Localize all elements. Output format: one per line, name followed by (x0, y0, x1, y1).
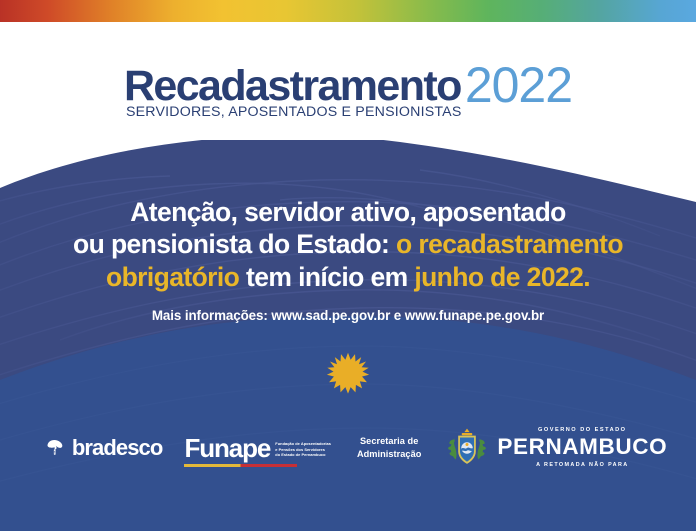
funape-subtitle-line-1: Fundação de Aposentadorias (275, 441, 331, 446)
funape-rule (184, 464, 297, 468)
page-title: Recadastramento (124, 65, 461, 108)
title-row: Recadastramento2022 SERVIDORES, APOSENTA… (124, 58, 572, 108)
info-line: Mais informações: www.sad.pe.gov.br e ww… (0, 308, 696, 323)
bradesco-tree-icon (43, 436, 67, 460)
message-line-2: ou pensionista do Estado: o recadastrame… (0, 228, 696, 260)
recadastramento-banner: Recadastramento2022 SERVIDORES, APOSENTA… (0, 0, 696, 531)
top-gradient-bar (0, 0, 696, 22)
pernambuco-slogan: A RETOMADA NÃO PARA (497, 463, 667, 468)
message-line-3-text: tem início em (239, 262, 414, 292)
logo-bradesco: bradesco (43, 435, 163, 461)
secretaria-line-1: Secretaria de (360, 436, 418, 446)
logo-funape: Funape Fundação de Aposentadorias e Pens… (184, 435, 331, 461)
pernambuco-text-block: GOVERNO DO ESTADO PERNAMBUCO A RETOMADA … (497, 428, 667, 469)
message-line-2-highlight: o recadastramento (396, 229, 623, 259)
funape-subtitle-line-3: do Estado de Pernambuco (275, 452, 325, 457)
title-year: 2022 (465, 60, 572, 110)
funape-label: Funape (184, 433, 270, 463)
main-message: Atenção, servidor ativo, aposentado ou p… (0, 196, 696, 293)
funape-wordmark-wrap: Funape (184, 435, 270, 461)
message-line-1: Atenção, servidor ativo, aposentado (0, 196, 696, 228)
sun-icon (326, 351, 370, 395)
page-subtitle: SERVIDORES, APOSENTADOS E PENSIONISTAS (126, 104, 462, 120)
message-line-3-highlight-a: obrigatório (106, 262, 239, 292)
funape-subtitle-line-2: e Pensões dos Servidores (275, 447, 325, 452)
logo-pernambuco: GOVERNO DO ESTADO PERNAMBUCO A RETOMADA … (445, 426, 667, 470)
message-line-1-text: Atenção, servidor ativo, aposentado (130, 197, 566, 227)
bradesco-label: bradesco (72, 435, 163, 461)
secretaria-line-2: Administração (357, 449, 421, 459)
title-block: Recadastramento2022 SERVIDORES, APOSENTA… (0, 58, 696, 108)
message-line-3-highlight-b: junho de 2022. (414, 262, 590, 292)
sun-icon-wrap (0, 351, 696, 400)
message-line-3: obrigatório tem início em junho de 2022. (0, 261, 696, 293)
pernambuco-gov-label: GOVERNO DO ESTADO (497, 428, 667, 434)
pernambuco-name: PERNAMBUCO (497, 436, 667, 459)
pernambuco-coat-of-arms-icon (445, 426, 489, 470)
logo-secretaria-administracao: Secretaria de Administração (357, 435, 421, 462)
funape-subtitle: Fundação de Aposentadorias e Pensões dos… (275, 441, 331, 458)
message-line-2-text: ou pensionista do Estado: (73, 229, 396, 259)
footer-logos: bradesco Funape Fundação de Aposentadori… (0, 418, 696, 478)
